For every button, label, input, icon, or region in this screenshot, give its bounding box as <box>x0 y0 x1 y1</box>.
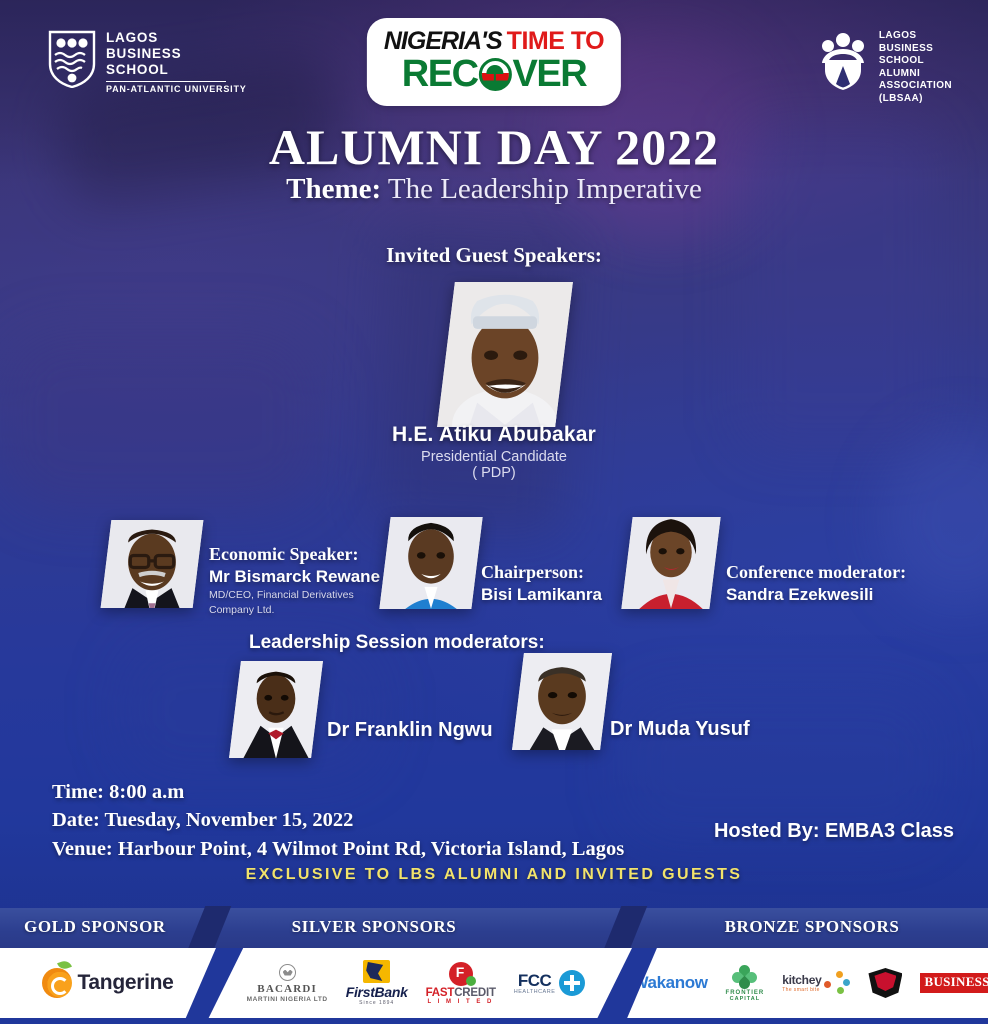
sponsor-band: GOLD SPONSOR SILVER SPONSORS BRONZE SPON… <box>0 908 988 948</box>
theme-label: Theme: <box>286 173 381 205</box>
lbsaa-line-2: BUSINESS <box>879 43 952 56</box>
exclusive-notice: EXCLUSIVE TO LBS ALUMNI AND INVITED GUES… <box>0 866 988 884</box>
campaign-word-timeto: TIME TO <box>507 29 604 54</box>
kitchey-nodes-icon <box>824 971 850 995</box>
speaker-subtitle-line-1: MD/CEO, Financial Derivatives <box>209 589 380 602</box>
sponsor-name: FCC <box>514 972 556 989</box>
lbs-logo: LAGOS BUSINESS SCHOOL PAN-ATLANTIC UNIVE… <box>48 30 247 95</box>
sponsor-subtitle: MARTINI NIGERIA LTD <box>247 996 328 1003</box>
red-shield-crest-icon <box>868 968 902 998</box>
fcc-cross-icon <box>559 970 585 996</box>
speaker-title: Conference moderator: <box>726 562 906 583</box>
bacardi-bat-icon <box>279 964 296 981</box>
moderator-name-muda: Dr Muda Yusuf <box>610 718 750 741</box>
bronze-sponsor-panel: FIDSON ✦ Wakanow FRONTIER CAPITAL kitche <box>616 948 988 1018</box>
portrait-franklin-ngwu <box>229 661 323 758</box>
page-title: ALUMNI DAY 2022 <box>0 118 988 176</box>
event-date: Date: Tuesday, November 15, 2022 <box>52 806 624 834</box>
sponsor-name-part-2: CREDIT <box>454 987 496 999</box>
campaign-word-ver: VER <box>513 55 587 93</box>
bronze-sponsor-label: BRONZE SPONSORS <box>318 917 988 937</box>
lbs-line-1: LAGOS <box>106 30 247 46</box>
lbsaa-logo: LAGOS BUSINESS SCHOOL ALUMNI ASSOCIATION… <box>816 30 952 105</box>
businessday-logo-icon: BUSINESS DAY <box>920 973 988 993</box>
portrait-muda-yusuf <box>512 653 612 750</box>
lbs-subtitle: PAN-ATLANTIC UNIVERSITY <box>106 84 247 95</box>
background-blur-shape <box>620 690 940 840</box>
sponsor-fcc: FCC HEALTHCARE <box>514 970 586 996</box>
lbsaa-line-6: (LBSAA) <box>879 93 952 106</box>
theme-text: The Leadership Imperative <box>388 173 702 205</box>
portrait-illustration <box>621 517 720 609</box>
event-details: Time: 8:00 a.m Date: Tuesday, November 1… <box>52 778 624 863</box>
sponsor-tangerine: Tangerine <box>42 968 173 998</box>
tangerine-logo-icon <box>42 968 72 998</box>
portrait-illustration <box>379 517 482 609</box>
background-blur-shape <box>0 330 320 510</box>
lbsaa-shield-people-icon <box>816 30 870 92</box>
leadership-session-heading: Leadership Session moderators: <box>249 632 545 654</box>
sponsor-name: FASTCREDIT <box>426 987 496 999</box>
silver-sponsor-panel: BACARDI MARTINI NIGERIA LTD FirstBank Si… <box>200 948 632 1018</box>
lbs-line-2: BUSINESS <box>106 46 247 62</box>
speaker-name: Bisi Lamikanra <box>481 585 602 605</box>
moderator-name-ngwu: Dr Franklin Ngwu <box>327 719 493 742</box>
speaker-subtitle-line-2: Company Ltd. <box>209 604 380 617</box>
speaker-caption-moderator: Conference moderator: Sandra Ezekwesili <box>726 562 906 605</box>
speaker-name: Mr Bismarck Rewane <box>209 567 380 587</box>
sponsor-fastcredit: FASTCREDIT L I M I T E D <box>426 962 496 1005</box>
speaker-caption-chairperson: Chairperson: Bisi Lamikanra <box>481 562 602 605</box>
lbsaa-wordmark: LAGOS BUSINESS SCHOOL ALUMNI ASSOCIATION… <box>879 30 952 105</box>
sponsor-kitchey: kitchey The smart bite <box>782 971 850 995</box>
sponsor-businessday: BUSINESS DAY <box>920 973 988 993</box>
firstbank-elephant-icon <box>363 960 390 983</box>
campaign-word-nigerias: NIGERIA'S <box>384 29 502 54</box>
portrait-illustration <box>512 653 612 750</box>
main-speaker-role: Presidential Candidate <box>0 449 988 465</box>
lbs-line-3: SCHOOL <box>106 62 247 78</box>
theme-line: Theme: The Leadership Imperative <box>0 173 988 206</box>
lbsaa-line-3: SCHOOL <box>879 55 952 68</box>
invited-guest-heading: Invited Guest Speakers: <box>0 243 988 268</box>
portrait-atiku-abubakar <box>437 282 573 427</box>
campaign-word-rec: REC <box>402 55 478 93</box>
wakanow-logo-icon: ✦ Wakanow <box>633 973 708 993</box>
lbsaa-line-4: ALUMNI <box>879 68 952 81</box>
sponsor-wakanow: ✦ Wakanow <box>633 973 708 993</box>
sponsor-subtitle: HEALTHCARE <box>514 989 556 995</box>
speaker-caption-economic: Economic Speaker: Mr Bismarck Rewane MD/… <box>209 544 380 616</box>
sponsor-frontier-capital: FRONTIER CAPITAL <box>726 965 765 1002</box>
hosted-by: Hosted By: EMBA3 Class <box>714 820 954 843</box>
sponsor-subtitle: L I M I T E D <box>426 999 496 1005</box>
speaker-title: Economic Speaker: <box>209 544 380 565</box>
event-time: Time: 8:00 a.m <box>52 778 624 806</box>
main-speaker-party: ( PDP) <box>0 465 988 481</box>
fastcredit-logo-icon <box>449 962 473 986</box>
sponsor-name-part-1: FAST <box>426 987 455 999</box>
speaker-name: Sandra Ezekwesili <box>726 585 906 605</box>
portrait-bismarck-rewane <box>101 520 204 608</box>
pdp-umbrella-icon <box>479 58 512 91</box>
sponsor-name-part-1: BUSINESS <box>920 973 988 993</box>
lbs-divider <box>106 81 226 83</box>
main-speaker-name: H.E. Atiku Abubakar <box>0 423 988 447</box>
campaign-badge: NIGERIA'S TIME TO REC VER <box>371 22 617 102</box>
sponsor-subtitle: The smart bite <box>782 987 821 993</box>
gold-sponsor-panel: Tangerine <box>0 948 216 1018</box>
portrait-illustration <box>437 282 573 427</box>
sponsor-name: FRONTIER <box>726 990 765 996</box>
portrait-illustration <box>101 520 204 608</box>
sponsor-bacardi: BACARDI MARTINI NIGERIA LTD <box>247 964 328 1003</box>
portrait-illustration <box>229 661 323 758</box>
sponsor-firstbank: FirstBank Since 1894 <box>346 960 408 1006</box>
flyer-header: LAGOS BUSINESS SCHOOL PAN-ATLANTIC UNIVE… <box>0 0 988 125</box>
portrait-sandra-ezekwesili <box>621 517 720 609</box>
event-venue: Venue: Harbour Point, 4 Wilmot Point Rd,… <box>52 835 624 863</box>
star-icon: ✦ <box>635 967 644 980</box>
sponsor-subtitle: CAPITAL <box>726 996 765 1002</box>
lbs-wordmark: LAGOS BUSINESS SCHOOL PAN-ATLANTIC UNIVE… <box>106 30 247 95</box>
portrait-bisi-lamikanra <box>379 517 482 609</box>
sponsor-name: Wakanow <box>633 973 708 992</box>
event-flyer: LAGOS BUSINESS SCHOOL PAN-ATLANTIC UNIVE… <box>0 0 988 1024</box>
sponsor-subtitle: Since 1894 <box>346 1000 408 1006</box>
lbs-shield-icon <box>48 30 96 88</box>
lbsaa-line-5: ASSOCIATION <box>879 80 952 93</box>
sponsor-name: BACARDI <box>247 983 328 995</box>
sponsor-name: Tangerine <box>77 971 173 995</box>
sponsor-name: FirstBank <box>346 984 408 1000</box>
sponsor-shield-emblem <box>868 968 902 998</box>
sponsor-logos-row: Tangerine BACARDI MARTINI NIGERIA LTD Fi… <box>0 948 988 1024</box>
speaker-title: Chairperson: <box>481 562 602 583</box>
sponsor-name: kitchey <box>782 973 821 987</box>
lbsaa-line-1: LAGOS <box>879 30 952 43</box>
frontier-capital-flower-icon <box>732 965 758 989</box>
